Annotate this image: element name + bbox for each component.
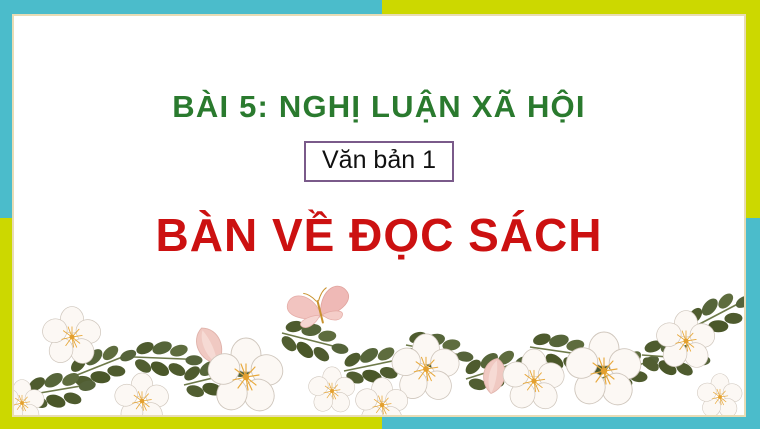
lesson-title: BÀI 5: NGHỊ LUẬN XÃ HỘI — [14, 16, 744, 124]
slide-content-card: BÀI 5: NGHỊ LUẬN XÃ HỘI Văn bản 1 BÀN VỀ… — [12, 14, 746, 417]
floral-border-decoration — [14, 285, 744, 415]
butterfly-icon — [285, 285, 354, 331]
main-heading: BÀN VỀ ĐỌC SÁCH — [14, 182, 744, 259]
title-stack: BÀI 5: NGHỊ LUẬN XÃ HỘI Văn bản 1 BÀN VỀ… — [14, 16, 744, 259]
subtitle-row: Văn bản 1 — [14, 141, 744, 182]
rose-bud-group — [191, 323, 508, 395]
rose-flower-group — [14, 307, 744, 415]
leaf-sprig-group — [25, 285, 744, 414]
subtitle-box: Văn bản 1 — [304, 141, 454, 182]
slide-canvas: BÀI 5: NGHỊ LUẬN XÃ HỘI Văn bản 1 BÀN VỀ… — [0, 0, 760, 429]
